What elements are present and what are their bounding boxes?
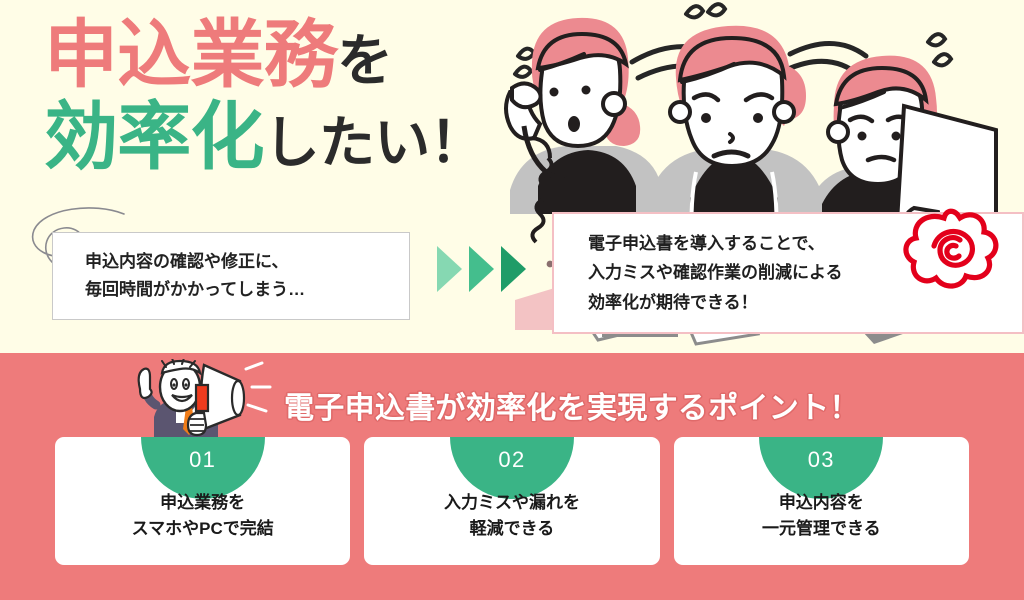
solution-statement-box: 電子申込書を導入することで、 入力ミスや確認作業の削減による 効率化が期待できる… xyxy=(552,212,1024,334)
point-number-03: 03 xyxy=(808,447,835,473)
headline-line-2-kanji: 効率化 xyxy=(44,95,264,178)
point-card-02[interactable]: 02 入力ミスや漏れを 軽減できる xyxy=(364,437,659,565)
banner-title: 電子申込書が効率化を実現するポイント！ xyxy=(284,383,860,427)
page-title: 申込業務を 効率化したい！ xyxy=(44,18,524,174)
point-text-03: 申込内容を 一元管理できる xyxy=(762,490,881,541)
headline-line-2-kana: したい！ xyxy=(264,111,485,174)
point-text-02: 入力ミスや漏れを 軽減できる xyxy=(444,490,580,541)
solution-statement-text: 電子申込書を導入することで、 入力ミスや確認作業の削減による 効率化が期待できる… xyxy=(554,229,843,317)
arrow-right-icon-light xyxy=(437,246,462,292)
points-card-list: 01 申込業務を スマホやPCで完結 02 入力ミスや漏れを 軽減できる 03 … xyxy=(55,437,969,565)
transition-arrows xyxy=(437,246,526,292)
points-section: 電子申込書が効率化を実現するポイント！ 01 申込業務を スマホやPCで完結 0… xyxy=(0,353,1024,600)
problem-statement-box: 申込内容の確認や修正に、 毎回時間がかかってしまう… xyxy=(52,232,410,320)
headline-line-2: 効率化したい！ xyxy=(44,100,524,174)
point-number-02: 02 xyxy=(498,447,525,473)
headline-line-1: 申込業務を xyxy=(44,18,524,92)
infographic-root: 申込業務を 効率化したい！ xyxy=(0,0,1024,600)
point-card-01[interactable]: 01 申込業務を スマホやPCで完結 xyxy=(55,437,350,565)
arrow-right-icon-mid xyxy=(469,246,494,292)
headline-line-1-kanji: 申込業務 xyxy=(44,13,337,96)
point-number-01: 01 xyxy=(189,447,216,473)
point-text-01: 申込業務を スマホやPCで完結 xyxy=(132,490,274,541)
headline-line-1-kana: を xyxy=(337,29,392,92)
megaphone-man-icon xyxy=(120,359,290,437)
top-section: 申込業務を 効率化したい！ xyxy=(0,0,1024,353)
arrow-right-icon-dark xyxy=(501,246,526,292)
problem-statement-text: 申込内容の確認や修正に、 毎回時間がかかってしまう… xyxy=(53,248,305,304)
point-card-03[interactable]: 03 申込内容を 一元管理できる xyxy=(674,437,969,565)
